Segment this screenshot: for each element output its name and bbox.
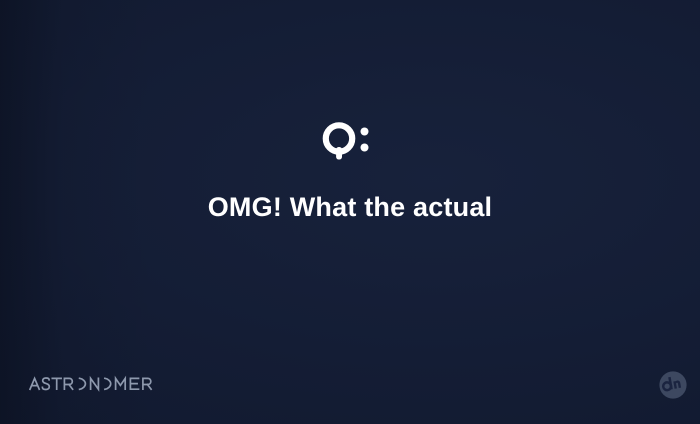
q-colon-icon	[0, 118, 700, 166]
astronomer-logo	[29, 375, 155, 393]
dn-badge-icon	[656, 368, 690, 402]
video-slide: OMG! What the actual	[0, 0, 700, 424]
headline-text: OMG! What the actual	[0, 191, 700, 223]
